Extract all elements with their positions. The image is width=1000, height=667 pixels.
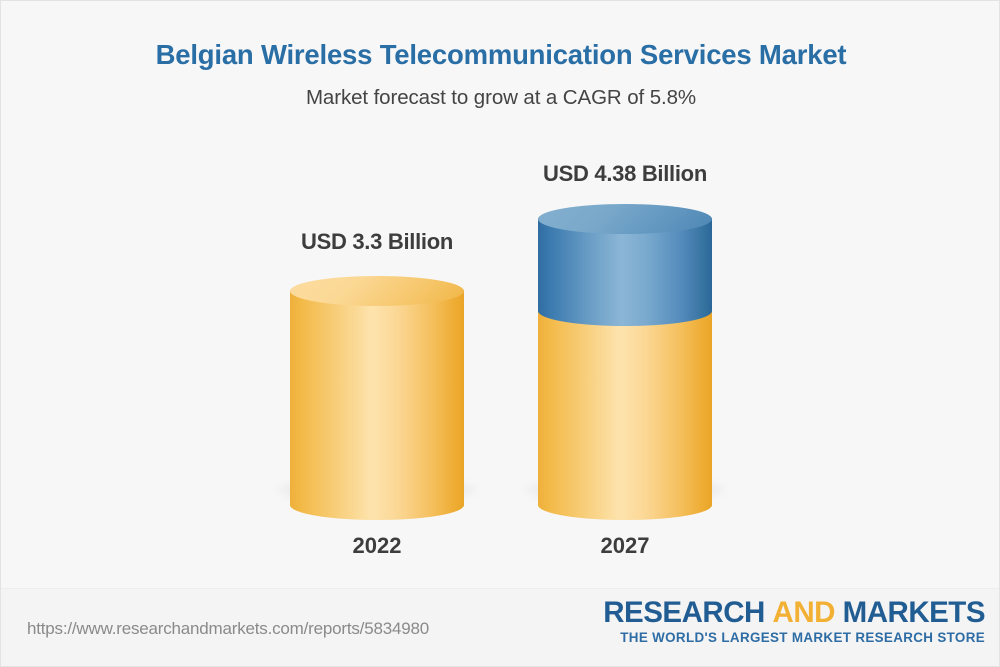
cylinder-body [290, 290, 464, 506]
brand-word-markets: MARKETS [843, 596, 985, 629]
brand-word-and: AND [773, 596, 835, 629]
brand-logo[interactable]: RESEARCH AND MARKETS THE WORLD'S LARGEST… [603, 597, 985, 646]
brand-wordmark: RESEARCH AND MARKETS [603, 597, 985, 629]
cylinder-bar-2022[interactable] [290, 276, 464, 516]
cylinder-top-cap [538, 204, 712, 234]
cylinder-segment-base [290, 290, 464, 506]
brand-tagline: THE WORLD'S LARGEST MARKET RESEARCH STOR… [603, 629, 985, 646]
cylinder-bar-2027[interactable] [538, 204, 712, 516]
infographic-canvas: Belgian Wireless Telecommunication Servi… [0, 0, 1000, 667]
cylinder-top-cap [290, 276, 464, 306]
cylinder-body [538, 297, 712, 506]
bar-value-label-2022: USD 3.3 Billion [227, 229, 527, 255]
brand-word-research: RESEARCH [603, 596, 765, 629]
footer-bar: https://www.researchandmarkets.com/repor… [1, 588, 1000, 666]
chart-plot-area: USD 3.3 Billion 2022 USD 4.38 Billion [1, 1, 1000, 591]
report-url-link[interactable]: https://www.researchandmarkets.com/repor… [27, 619, 429, 639]
cylinder-segment-base [538, 297, 712, 506]
cylinder-segment-growth [538, 218, 712, 311]
bar-category-label-2027: 2027 [475, 533, 775, 559]
bar-value-label-2027: USD 4.38 Billion [475, 161, 775, 187]
